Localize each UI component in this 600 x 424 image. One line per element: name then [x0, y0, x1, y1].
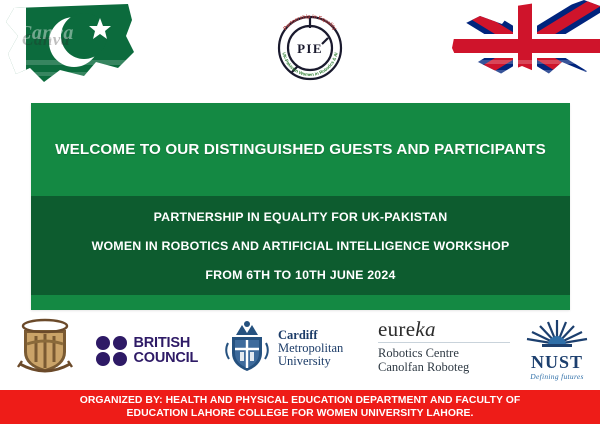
nust-starburst-icon	[524, 318, 590, 348]
footer-line-1: ORGANIZED BY: HEALTH AND PHYSICAL EDUCAT…	[80, 394, 521, 407]
cardiff-met-wordmark: Cardiff Metropolitan University	[278, 329, 343, 368]
welcome-heading: WELCOME TO OUR DISTINGUISHED GUESTS AND …	[31, 103, 570, 196]
eureka-wordmark-b: ka	[415, 317, 435, 341]
footer-line-2: EDUCATION LAHORE COLLEGE FOR WOMEN UNIVE…	[127, 407, 474, 420]
pie-logo: PIE Partnership in Equality UK-Pakistan …	[268, 4, 352, 88]
british-council-dots-icon	[96, 336, 127, 367]
lcwu-crest-logo	[14, 318, 76, 376]
svg-text:PIE: PIE	[297, 41, 323, 56]
eureka-wordmark-a: eure	[378, 317, 415, 341]
pakistan-flag	[0, 2, 140, 94]
nust-tagline: Defining futures	[524, 372, 590, 381]
united-kingdom-flag	[450, 0, 600, 92]
poster-canvas: Canva Canva	[0, 0, 600, 424]
cardiff-line-3: University	[278, 355, 343, 368]
nust-logo: NUST Defining futures	[524, 318, 590, 376]
banner-line-3: FROM 6TH TO 10TH JUNE 2024	[205, 268, 395, 282]
eureka-robotics-logo: eureka Robotics Centre Canolfan Roboteg	[378, 318, 518, 376]
banner-detail-lines: PARTNERSHIP IN EQUALITY FOR UK-PAKISTAN …	[31, 196, 570, 295]
banner-line-1: PARTNERSHIP IN EQUALITY FOR UK-PAKISTAN	[154, 210, 448, 224]
banner-bottom-band	[31, 295, 570, 310]
nust-wordmark: NUST	[524, 353, 590, 372]
british-council-line-1: BRITISH	[134, 336, 199, 352]
eureka-divider	[378, 342, 510, 343]
british-council-logo: BRITISH COUNCIL	[96, 334, 212, 368]
eureka-line-1: Robotics Centre	[378, 346, 518, 360]
eureka-wordmark: eureka	[378, 318, 518, 340]
british-council-wordmark: BRITISH COUNCIL	[134, 336, 199, 367]
british-council-line-2: COUNCIL	[134, 351, 199, 367]
cardiff-line-1: Cardiff	[278, 329, 343, 342]
cardiff-crest-icon	[224, 321, 270, 375]
eureka-line-2: Canolfan Roboteg	[378, 360, 518, 374]
cardiff-line-2: Metropolitan	[278, 342, 343, 355]
cardiff-met-logo: Cardiff Metropolitan University	[224, 320, 358, 376]
main-banner: WELCOME TO OUR DISTINGUISHED GUESTS AND …	[31, 103, 570, 310]
organizer-footer: ORGANIZED BY: HEALTH AND PHYSICAL EDUCAT…	[0, 390, 600, 424]
banner-line-2: WOMEN IN ROBOTICS AND ARTIFICIAL INTELLI…	[92, 239, 510, 253]
